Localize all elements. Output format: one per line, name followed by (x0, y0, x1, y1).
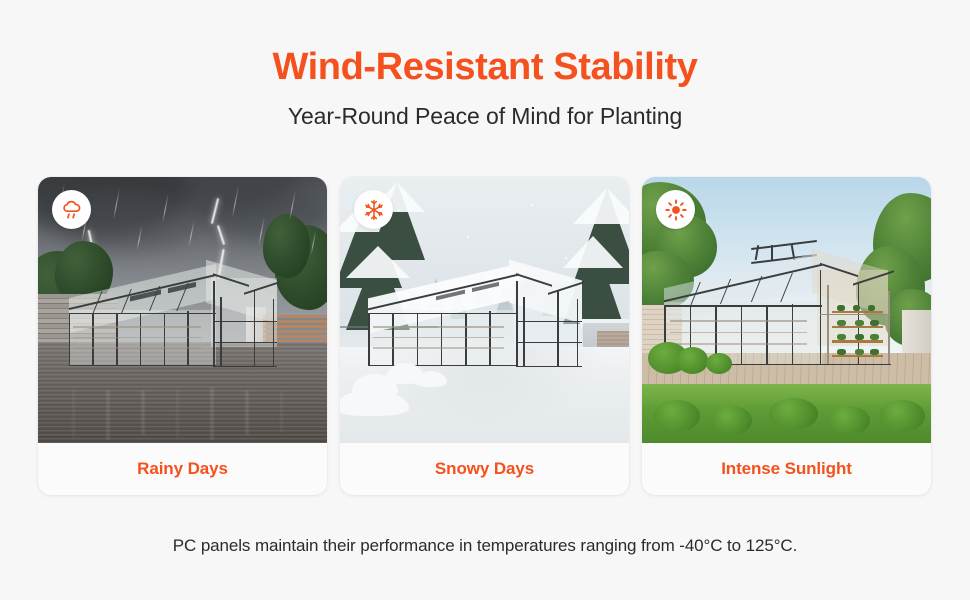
feature-card-row: Rainy Days (38, 177, 932, 495)
page-title: Wind-Resistant Stability (0, 46, 970, 89)
cloud-rain-icon (52, 190, 91, 229)
snowflake-icon (354, 190, 393, 229)
card-label-rainy: Rainy Days (38, 443, 327, 495)
footer-caption: PC panels maintain their performance in … (0, 536, 970, 556)
feature-card-sunlight[interactable]: Intense Sunlight (642, 177, 931, 495)
sun-icon (656, 190, 695, 229)
page-subtitle: Year-Round Peace of Mind for Planting (0, 103, 970, 130)
feature-card-rainy[interactable]: Rainy Days (38, 177, 327, 495)
feature-card-snowy[interactable]: Snowy Days (340, 177, 629, 495)
promo-banner: Wind-Resistant Stability Year-Round Peac… (0, 0, 970, 600)
card-image-sunlight (642, 177, 931, 443)
greenhouse-structure (64, 251, 301, 384)
card-image-snowy (340, 177, 629, 443)
card-label-sunlight: Intense Sunlight (642, 443, 931, 495)
card-image-rainy (38, 177, 327, 443)
heading-block: Wind-Resistant Stability Year-Round Peac… (0, 0, 970, 130)
card-label-snowy: Snowy Days (340, 443, 629, 495)
